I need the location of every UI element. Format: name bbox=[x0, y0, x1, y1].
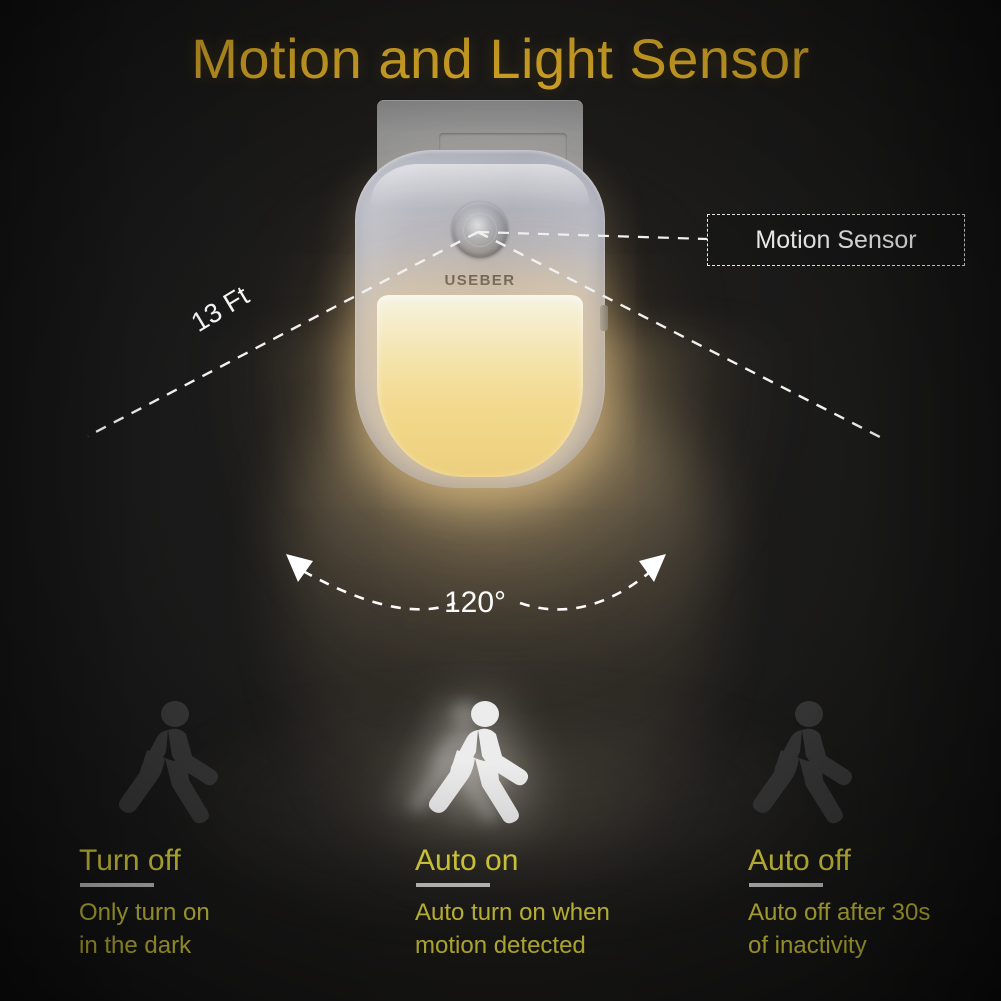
device-body: USEBER bbox=[355, 150, 605, 488]
night-light-device: USEBER bbox=[355, 100, 605, 490]
feature-line: in the dark bbox=[79, 929, 210, 962]
product-infographic: Motion and Light Sensor USEBER Motion Se… bbox=[0, 0, 1001, 1001]
side-button-icon[interactable] bbox=[600, 305, 608, 331]
brand-label: USEBER bbox=[355, 272, 605, 289]
light-panel bbox=[377, 295, 583, 477]
feature-title: Auto on bbox=[415, 845, 610, 877]
feature-line: Only turn on bbox=[79, 896, 210, 929]
feature-line: Auto off after 30s bbox=[748, 896, 930, 929]
feature-underline bbox=[80, 883, 154, 887]
feature-block-turn-off: Turn off Only turn on in the dark bbox=[79, 845, 210, 962]
motion-sensor-label: Motion Sensor bbox=[755, 226, 916, 255]
feature-block-auto-on: Auto on Auto turn on when motion detecte… bbox=[415, 845, 610, 962]
feature-underline bbox=[749, 883, 823, 887]
feature-line: Auto turn on when bbox=[415, 896, 610, 929]
walking-person-icon-left bbox=[118, 700, 228, 835]
motion-sensor-callout: Motion Sensor bbox=[707, 214, 965, 266]
walking-person-icon-right bbox=[752, 700, 862, 835]
walking-person-icon-center bbox=[428, 700, 538, 835]
feature-line: of inactivity bbox=[748, 929, 930, 962]
feature-block-auto-off: Auto off Auto off after 30s of inactivit… bbox=[748, 845, 930, 962]
motion-sensor-lens-icon bbox=[452, 202, 508, 258]
feature-line: motion detected bbox=[415, 929, 610, 962]
angle-label: 120° bbox=[444, 586, 506, 620]
page-title: Motion and Light Sensor bbox=[0, 26, 1001, 91]
feature-underline bbox=[416, 883, 490, 887]
feature-title: Auto off bbox=[748, 845, 930, 877]
feature-title: Turn off bbox=[79, 845, 210, 877]
